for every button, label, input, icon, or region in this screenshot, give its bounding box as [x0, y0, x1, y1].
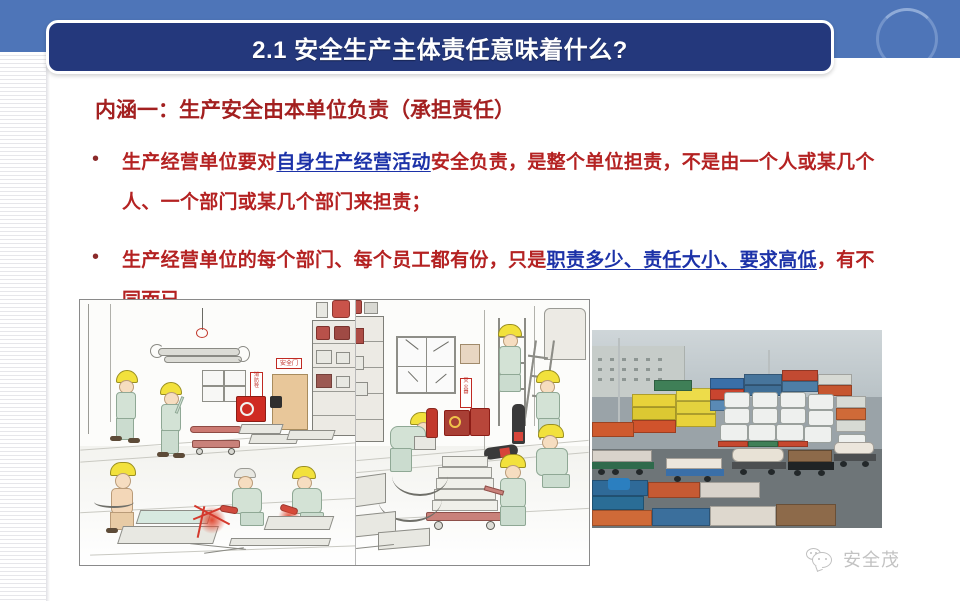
- container: [836, 420, 866, 432]
- stored-item: [356, 328, 364, 344]
- tank-container: [724, 392, 750, 408]
- red-pipe: [190, 426, 242, 433]
- block-stack: [442, 456, 488, 467]
- container: [592, 496, 644, 510]
- wall-edge: [88, 304, 89, 434]
- fire-extinguisher: [426, 408, 438, 438]
- structural-column: [484, 310, 485, 460]
- metal-rod: [229, 538, 331, 546]
- tank-container: [780, 408, 806, 424]
- container: [632, 420, 676, 433]
- tank-frame: [748, 441, 778, 447]
- list-item: • 生产经营单位要对自身生产经营活动安全负责，是整个单位担责，不是由一个人或某几…: [88, 143, 888, 223]
- floor-cable: [94, 496, 134, 508]
- container: [710, 378, 744, 389]
- crane-cable: [202, 308, 203, 330]
- container: [648, 482, 700, 498]
- stored-item: [316, 374, 332, 388]
- stored-item: [356, 382, 368, 396]
- bullet-text-1: 生产经营单位要对自身生产经营活动安全负责，是整个单位担责，不是由一个人或某几个人…: [122, 143, 888, 223]
- sign-safety-door: 安全门: [276, 358, 302, 369]
- steel-plate: [238, 424, 283, 434]
- container: [592, 422, 634, 437]
- stored-item: [316, 326, 330, 340]
- structural-column: [534, 306, 535, 426]
- stored-item: [356, 300, 362, 314]
- cylinder-label: [514, 432, 523, 441]
- container: [782, 370, 818, 381]
- pipe-bundle: [164, 356, 242, 363]
- container: [676, 414, 716, 427]
- stored-item: [332, 300, 350, 318]
- motion-arc-icon: [236, 346, 250, 362]
- workshop-cartoon-image: 消防栓 安全门: [79, 299, 590, 566]
- hanging-equipment: [270, 396, 282, 408]
- tank-container: [752, 392, 778, 408]
- watermark-text: 安全茂: [843, 546, 900, 572]
- stored-item: [364, 302, 378, 314]
- container: [632, 394, 676, 407]
- hose-reel-icon: [240, 402, 254, 416]
- emphasis-link-text: 自身生产经营活动: [276, 152, 430, 173]
- tank-container: [720, 424, 748, 441]
- container: [836, 396, 866, 408]
- wechat-icon: [806, 548, 836, 570]
- stored-item: [336, 376, 350, 388]
- watermark: 安全茂: [806, 546, 900, 572]
- slide-title-box: 2.1 安全生产主体责任意味着什么?: [46, 20, 834, 74]
- light-pole: [618, 338, 620, 430]
- motion-arc-icon: [150, 344, 164, 358]
- container: [652, 508, 710, 526]
- left-stripe-decoration: [0, 52, 46, 601]
- broken-window: [396, 336, 456, 394]
- container: [776, 504, 836, 526]
- container: [700, 482, 760, 498]
- window-pane: [202, 370, 224, 386]
- emphasis-link-text: 职责多少、责任大小、要求高低: [547, 250, 817, 271]
- tank-container: [752, 408, 778, 424]
- presentation-slide: 2.1 安全生产主体责任意味着什么? 内涵一：生产安全由本单位负责（承担责任） …: [0, 0, 960, 601]
- bullet-marker-icon: •: [88, 143, 122, 175]
- steel-plate: [286, 430, 335, 440]
- crane-hook-icon: [196, 328, 208, 338]
- tank-container: [808, 410, 834, 426]
- container-port-photo: [592, 330, 882, 528]
- container: [632, 407, 676, 420]
- pipe-bundle: [158, 348, 240, 356]
- stored-item: [316, 302, 328, 318]
- stored-item: [334, 326, 350, 340]
- window-pane: [202, 386, 224, 402]
- equipment-box: [470, 408, 490, 436]
- stored-item: [336, 352, 350, 364]
- window-pane: [224, 370, 246, 386]
- section-subtitle: 内涵一：生产安全由本单位负责（承担责任）: [95, 94, 515, 124]
- tank-frame: [778, 441, 808, 447]
- left-stripe-shadow: [46, 52, 50, 601]
- machine-dial: [449, 416, 461, 428]
- cartoon-panel-left: 消防栓 安全门: [80, 300, 356, 565]
- metal-beam: [264, 516, 335, 530]
- page-title: 2.1 安全生产主体责任意味着什么?: [252, 30, 628, 65]
- tank-container: [804, 426, 832, 443]
- plain-text: 生产经营单位要对: [122, 152, 276, 173]
- container: [710, 506, 776, 526]
- tank-container: [748, 424, 776, 441]
- wall-edge: [110, 304, 111, 422]
- concrete-block: [414, 436, 436, 450]
- hand-cart: [426, 512, 504, 521]
- tank-container: [780, 392, 806, 408]
- container: [836, 408, 866, 420]
- stored-item: [356, 356, 364, 370]
- arc-decoration-icon: [876, 8, 938, 58]
- block-stack: [432, 500, 498, 511]
- tank-frame: [718, 441, 748, 447]
- cart-wheel: [228, 448, 235, 455]
- tank-container: [776, 424, 804, 441]
- cartoon-panel-right: 灭火器: [356, 300, 589, 565]
- cart-wheel: [434, 521, 443, 530]
- stored-item: [316, 350, 332, 364]
- container: [744, 374, 782, 385]
- container: [818, 374, 852, 385]
- container: [654, 380, 692, 391]
- sign-fire-extinguisher: 灭火器: [460, 378, 472, 408]
- tank-container: [808, 394, 834, 410]
- cart-wheel: [486, 521, 495, 530]
- flat-cart: [192, 440, 240, 448]
- plain-text: 生产经营单位的每个部门、每个员工都有份，只是: [122, 250, 547, 271]
- blue-truck-cab: [608, 478, 630, 490]
- tank-container: [724, 408, 750, 424]
- container: [592, 510, 652, 526]
- container: [782, 381, 818, 392]
- cart-wheel: [196, 448, 203, 455]
- bullet-marker-icon: •: [88, 241, 122, 273]
- wall-poster: [460, 344, 480, 364]
